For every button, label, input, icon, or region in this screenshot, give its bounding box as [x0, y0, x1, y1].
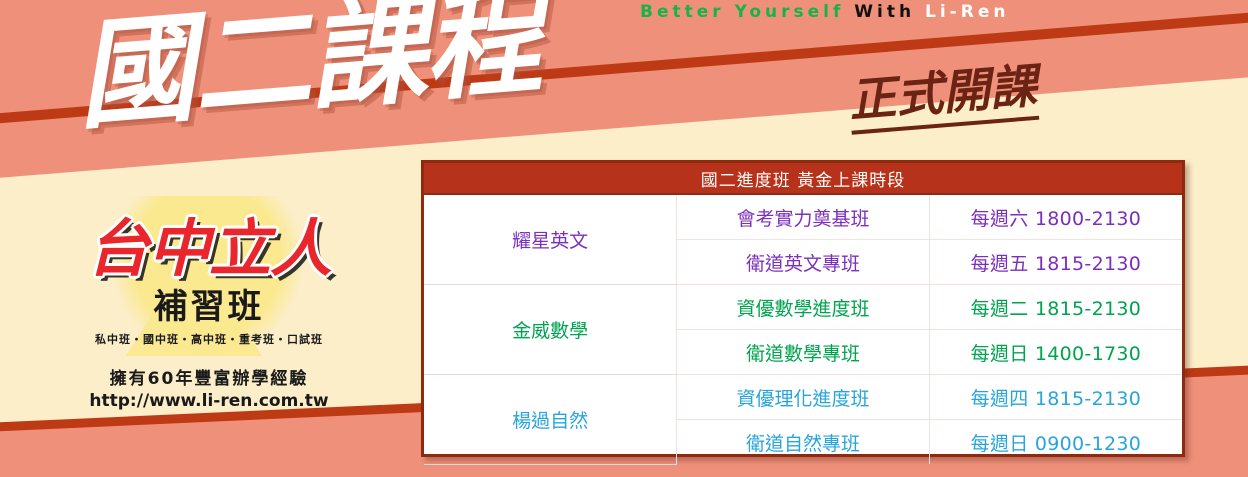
subject-cell-3: 楊過自然 — [424, 375, 677, 465]
course-time-cell: 每週六 1800-2130 — [929, 194, 1182, 240]
logo-experience-text: 擁有60年豐富辦學經驗 — [34, 364, 384, 389]
logo-school-type: 補習班 — [34, 279, 384, 328]
course-name-cell: 資優理化進度班 — [677, 375, 930, 420]
course-time-cell: 每週二 1815-2130 — [929, 285, 1182, 330]
schedule-table-container: 國二進度班 黃金上課時段 耀星英文會考實力奠基班每週六 1800-2130衛道英… — [421, 160, 1185, 457]
tagline-with: With — [854, 2, 915, 22]
course-name-cell: 衛道自然專班 — [677, 420, 930, 465]
course-name-cell: 會考實力奠基班 — [677, 194, 930, 240]
promo-banner: Better Yourself With Li-Ren 國二課程 正式開課 台中… — [0, 0, 1248, 477]
tagline-better-yourself: Better Yourself — [640, 2, 844, 22]
schedule-table-body: 耀星英文會考實力奠基班每週六 1800-2130衛道英文專班每週五 1815-2… — [424, 194, 1182, 464]
table-header-row: 國二進度班 黃金上課時段 — [424, 163, 1182, 194]
subject-cell-1: 耀星英文 — [424, 194, 677, 285]
course-name-cell: 衛道英文專班 — [677, 240, 930, 285]
subheadline-group: 正式開課 — [846, 47, 1039, 131]
course-time-cell: 每週日 1400-1730 — [929, 330, 1182, 375]
schedule-table-head: 國二進度班 黃金上課時段 — [424, 163, 1182, 194]
table-row: 金威數學資優數學進度班每週二 1815-2130 — [424, 285, 1182, 330]
table-row: 耀星英文會考實力奠基班每週六 1800-2130 — [424, 194, 1182, 240]
subject-cell-2: 金威數學 — [424, 285, 677, 375]
headline-subtitle: 正式開課 — [847, 59, 1039, 135]
brand-tagline: Better Yourself With Li-Ren — [640, 2, 1009, 22]
table-row: 楊過自然資優理化進度班每週四 1815-2130 — [424, 375, 1182, 420]
schedule-table-title: 國二進度班 黃金上課時段 — [424, 163, 1182, 194]
logo-website-url[interactable]: http://www.li-ren.com.tw — [34, 391, 384, 411]
course-time-cell: 每週五 1815-2130 — [929, 240, 1182, 285]
course-name-cell: 資優數學進度班 — [677, 285, 930, 330]
tagline-li-ren: Li-Ren — [925, 2, 1009, 22]
course-time-cell: 每週四 1815-2130 — [929, 375, 1182, 420]
course-name-cell: 衛道數學專班 — [677, 330, 930, 375]
course-time-cell: 每週日 0900-1230 — [929, 420, 1182, 465]
logo-school-name: 台中立人 — [34, 216, 384, 281]
logo-block: 台中立人 補習班 私中班・國中班・高中班・重考班・口試班 擁有60年豐富辦學經驗… — [34, 196, 384, 426]
schedule-table: 國二進度班 黃金上課時段 耀星英文會考實力奠基班每週六 1800-2130衛道英… — [424, 163, 1182, 465]
logo-class-tags: 私中班・國中班・高中班・重考班・口試班 — [34, 331, 384, 347]
